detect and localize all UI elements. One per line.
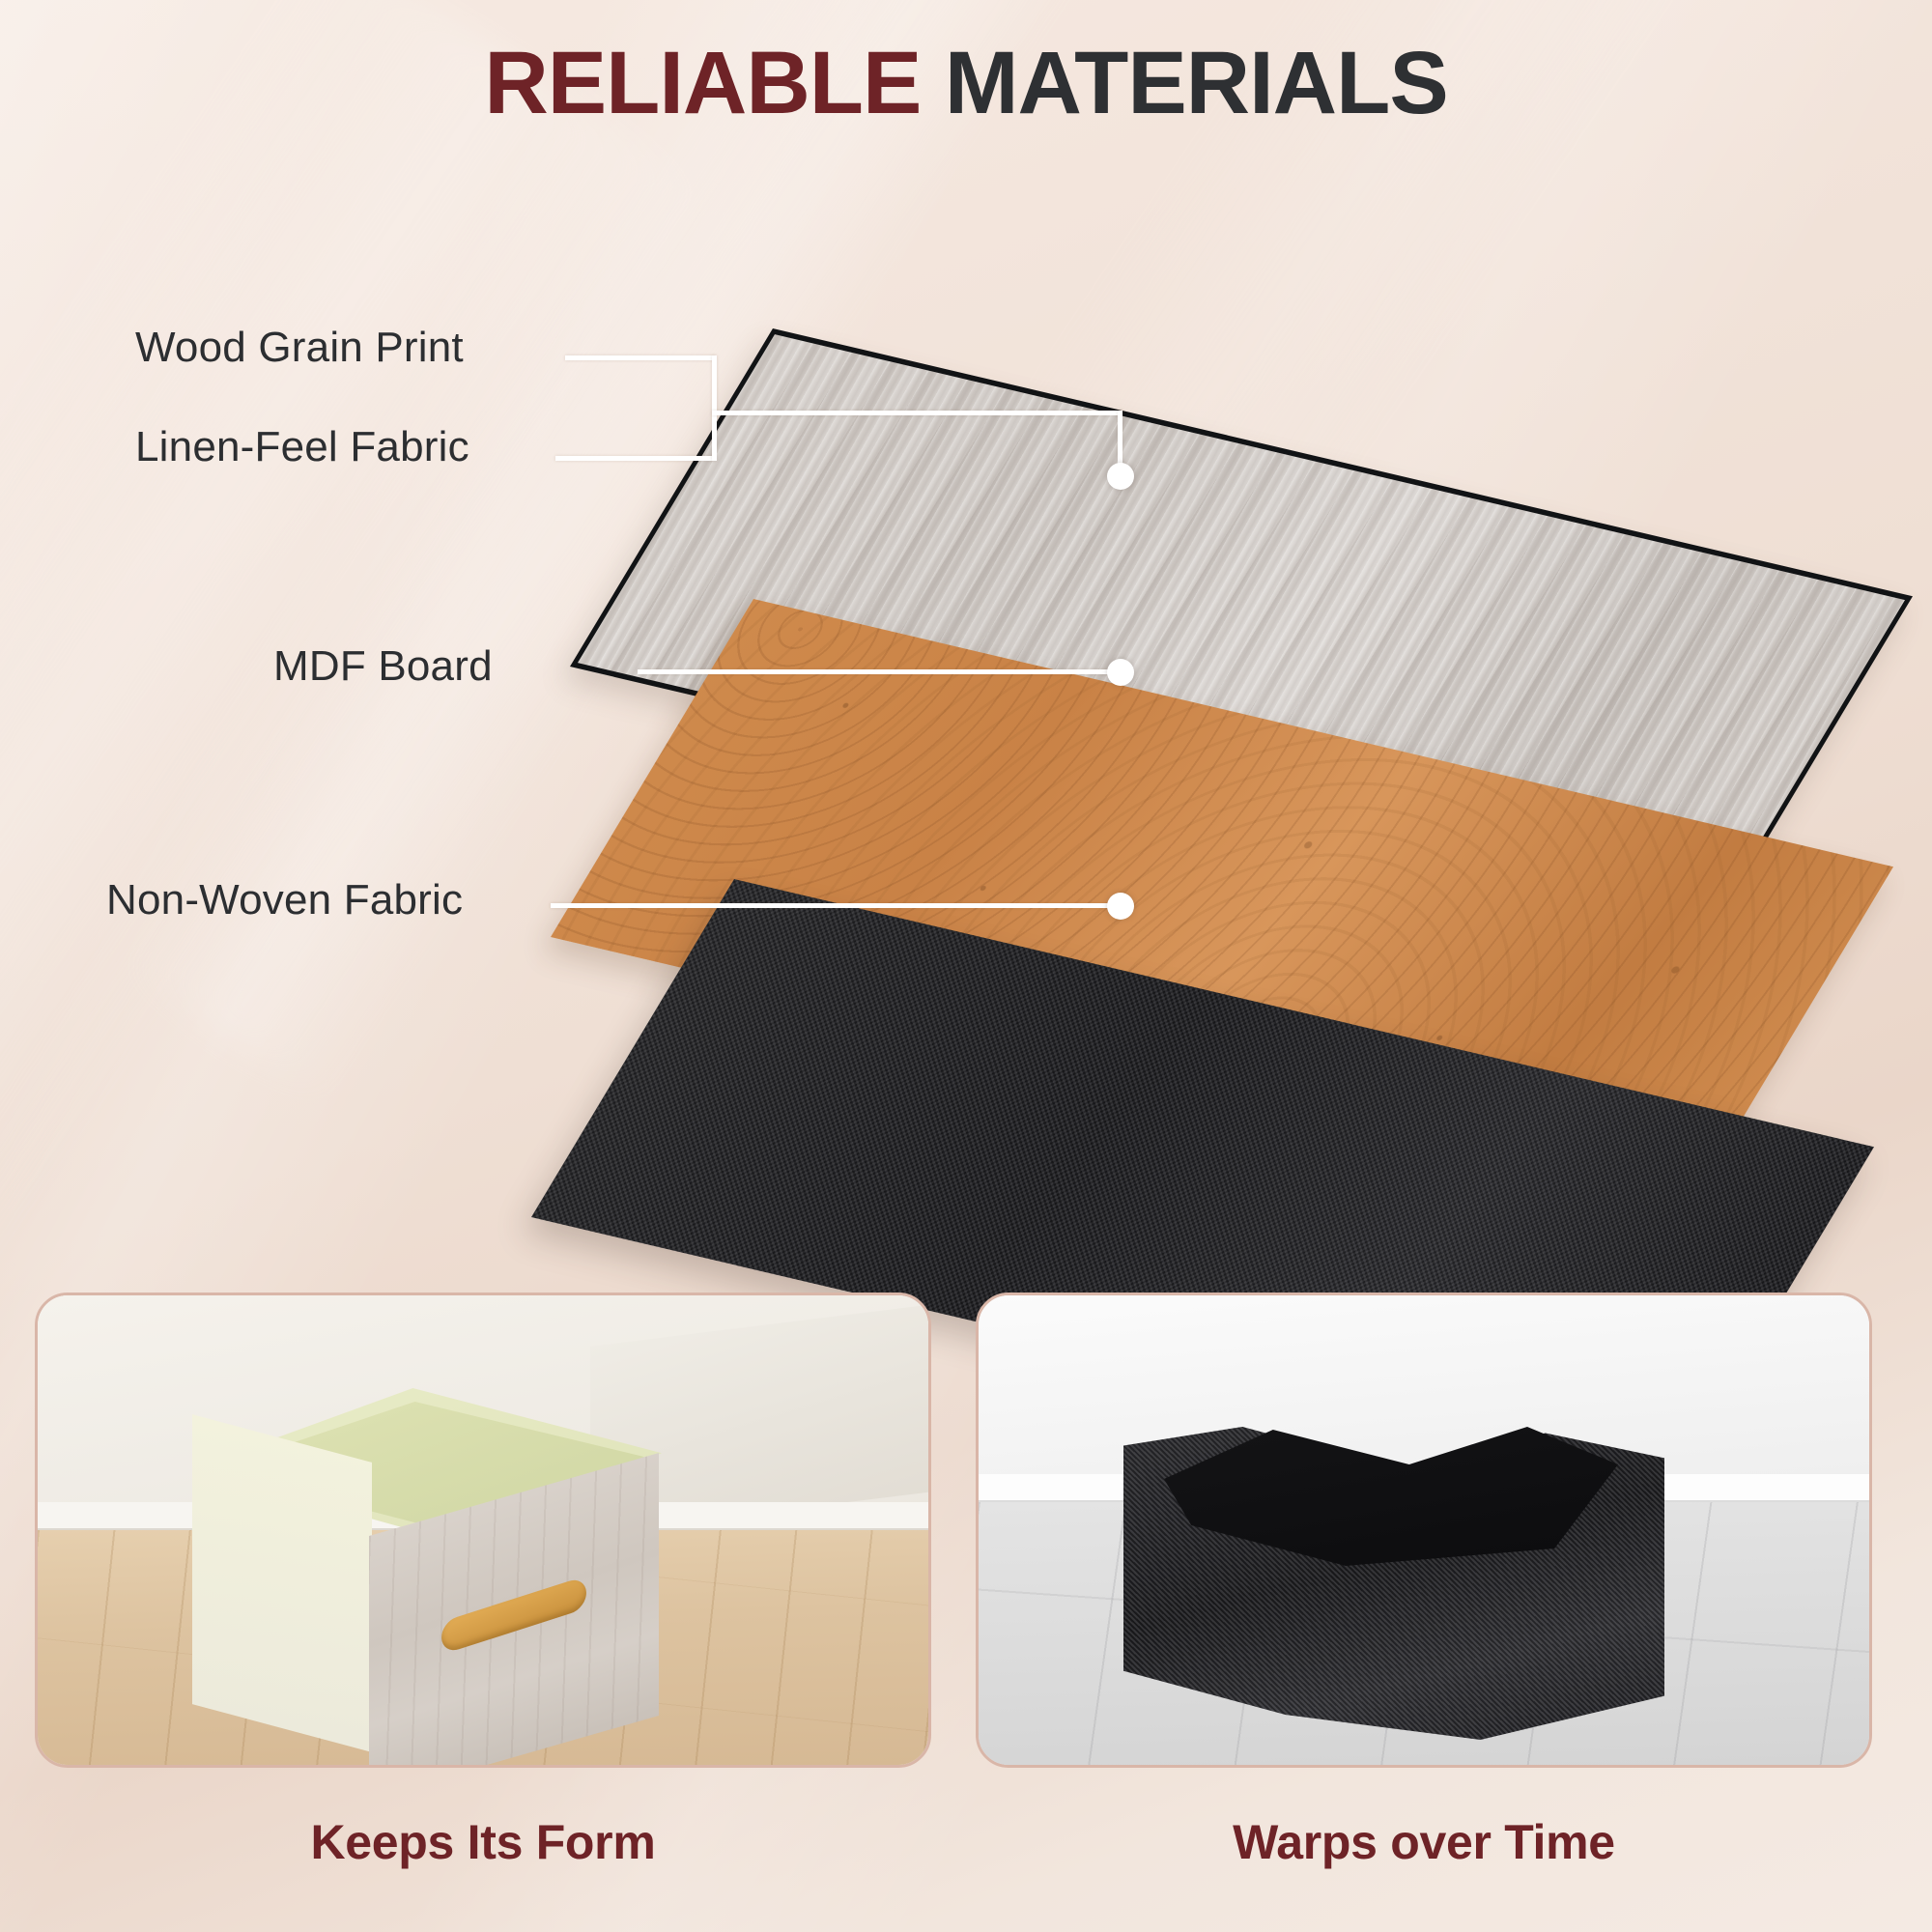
marker-dot-wood-grain [1107, 463, 1134, 490]
leader-line-bracket-vertical [712, 355, 717, 461]
layer-non-woven-fabric [734, 879, 1874, 1217]
infographic-page: RELIABLE MATERIALS Wood Grain Print Line… [0, 0, 1932, 1932]
page-title: RELIABLE MATERIALS [0, 37, 1932, 130]
leader-line-mdf [638, 669, 1119, 674]
marker-dot-mdf-board [1107, 659, 1134, 686]
label-mdf-board: MDF Board [273, 642, 493, 691]
storage-bin-collapsed [1123, 1388, 1664, 1747]
label-non-woven-fabric: Non-Woven Fabric [106, 876, 463, 924]
scene-room-bad [979, 1295, 1869, 1765]
scene-room-good [38, 1295, 928, 1765]
box-side-panel [192, 1414, 372, 1752]
label-wood-grain-print: Wood Grain Print [135, 324, 464, 372]
leader-line-wood-horizontal [565, 355, 715, 360]
marker-dot-non-woven-fabric [1107, 893, 1134, 920]
leader-line-wood-to-panel [712, 411, 1122, 415]
title-word-materials: MATERIALS [945, 34, 1448, 132]
comparison-card-good[interactable] [35, 1293, 931, 1768]
label-linen-feel-fabric: Linen-Feel Fabric [135, 423, 469, 471]
leader-line-linen-horizontal [555, 456, 715, 461]
title-word-reliable: RELIABLE [484, 34, 945, 132]
material-layer-diagram [0, 145, 1932, 1265]
leader-line-non-woven [551, 903, 1119, 908]
caption-warps-over-time: Warps over Time [976, 1814, 1872, 1870]
storage-box-upright [192, 1388, 675, 1736]
caption-keeps-its-form: Keeps Its Form [35, 1814, 931, 1870]
comparison-card-bad[interactable] [976, 1293, 1872, 1768]
